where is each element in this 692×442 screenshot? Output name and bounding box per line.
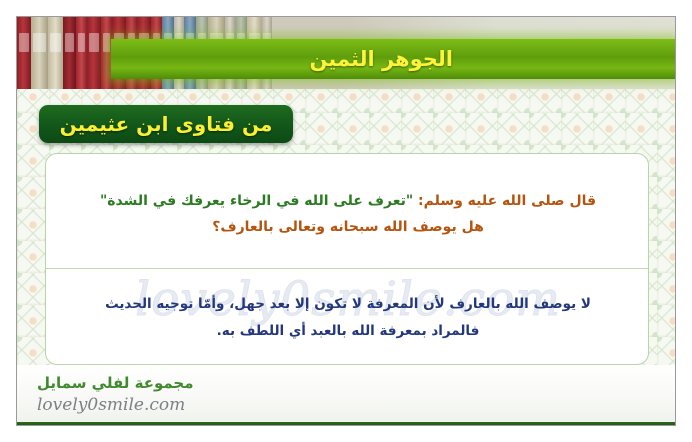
question-line-1: قال صلى الله عليه وسلم: "تعرف على الله ف… bbox=[68, 188, 628, 214]
answer-area: لا يوصف الله بالعارف لأن المعرفة لا تكون… bbox=[46, 269, 649, 365]
book-spine bbox=[48, 17, 63, 89]
book-spine bbox=[31, 17, 48, 89]
question-hadith-quote: "تعرف على الله في الرخاء يعرفك في الشدة" bbox=[100, 193, 413, 209]
book-spine bbox=[76, 17, 87, 89]
qa-content-box: lovely0smile.com قال صلى الله عليه وسلم:… bbox=[45, 153, 649, 365]
subtitle-banner: من فتاوى ابن عثيمين bbox=[39, 105, 293, 143]
book-spine bbox=[87, 17, 101, 89]
book-spine bbox=[17, 17, 31, 89]
answer-line-1: لا يوصف الله بالعارف لأن المعرفة لا تكون… bbox=[72, 291, 624, 318]
footer-arabic-credit: مجموعة لفلي سمايل bbox=[37, 374, 194, 392]
answer-line-2: فالمراد بمعرفة الله بالعبد أي اللطف به. bbox=[72, 318, 624, 345]
question-line-2: هل يوصف الله سبحانه وتعالى بالعارف؟ bbox=[68, 214, 628, 240]
footer: مجموعة لفلي سمايل lovely0smile.com bbox=[17, 365, 676, 426]
subtitle-banner-text: من فتاوى ابن عثيمين bbox=[60, 112, 273, 136]
footer-website-url: lovely0smile.com bbox=[37, 395, 185, 415]
question-narration-prefix: قال صلى الله عليه وسلم: bbox=[413, 193, 596, 209]
footer-green-bar bbox=[17, 422, 676, 426]
title-banner-text: الجوهر الثمين bbox=[309, 47, 453, 71]
book-spine bbox=[63, 17, 76, 89]
fatwa-card: الجوهر الثمين من فتاوى ابن عثيمين lovely… bbox=[16, 16, 676, 426]
question-area: قال صلى الله عليه وسلم: "تعرف على الله ف… bbox=[46, 154, 649, 268]
screenshot-root: الجوهر الثمين من فتاوى ابن عثيمين lovely… bbox=[0, 0, 692, 442]
title-banner: الجوهر الثمين bbox=[111, 39, 676, 79]
